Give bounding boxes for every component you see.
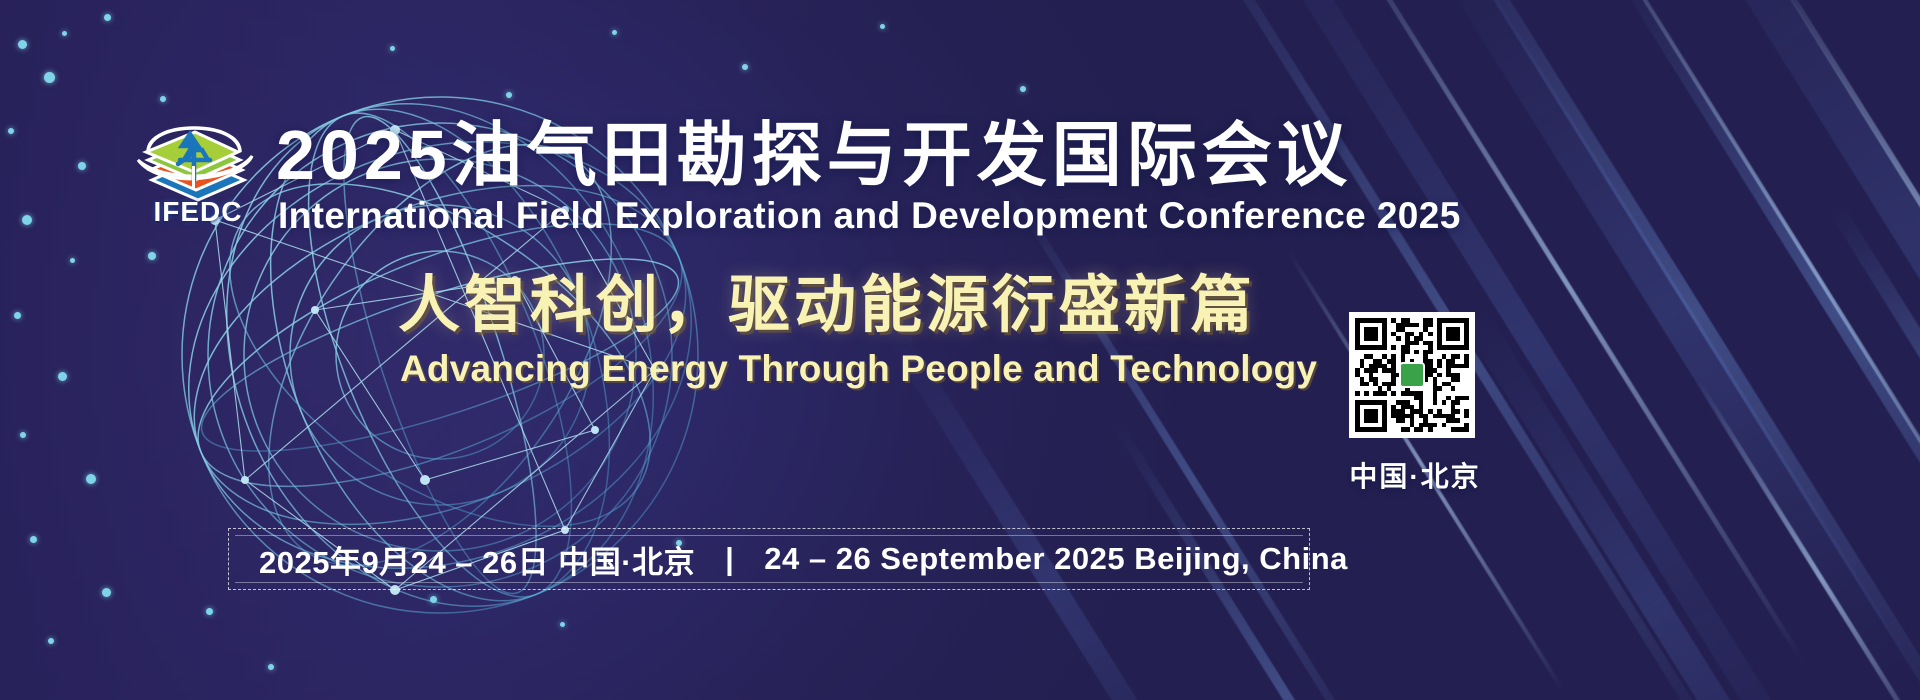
conference-banner: IFEDC 2025油气田勘探与开发国际会议 International Fie… (0, 0, 1920, 700)
date-separator: | (721, 541, 738, 577)
slogan-en: Advancing Energy Through People and Tech… (400, 348, 1317, 390)
date-location-bar: 2025年9月24 – 26日 中国·北京 | 24 – 26 Septembe… (228, 528, 1310, 590)
slogan-cn: 人智科创，驱动能源衍盛新篇 (398, 272, 1256, 340)
qr-code[interactable] (1349, 312, 1475, 438)
page-title-en: International Field Exploration and Deve… (278, 196, 1461, 236)
date-cn: 2025年9月24 – 26日 中国·北京 (259, 537, 695, 582)
qr-center-logo (1399, 362, 1425, 388)
ifedc-acronym: IFEDC (136, 196, 260, 228)
page-title-cn: 2025油气田勘探与开发国际会议 (276, 118, 1352, 192)
date-en: 24 – 26 September 2025 Beijing, China (764, 541, 1348, 577)
qr-caption: 中国·北京 (1330, 455, 1500, 495)
